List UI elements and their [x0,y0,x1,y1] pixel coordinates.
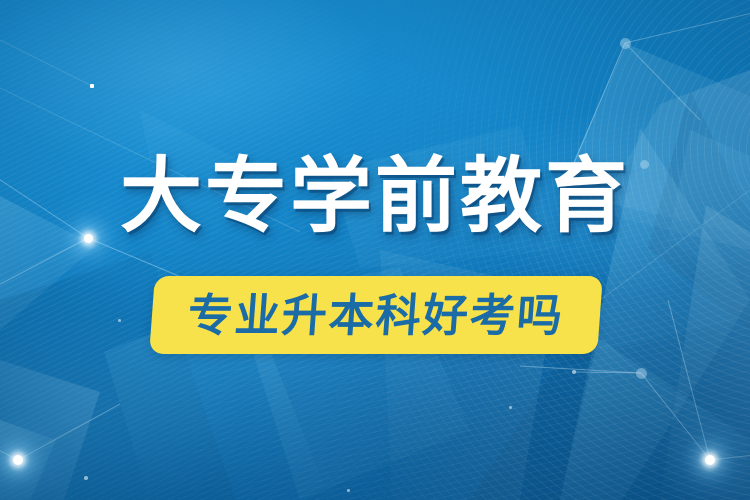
promo-banner: 大专学前教育 专业升本科好考吗 [0,0,750,500]
subheadline-text: 专业升本科好考吗 [149,276,603,354]
headline-text: 大专学前教育 [0,156,750,238]
subheadline-banner: 专业升本科好考吗 [152,276,600,354]
background-vignette [0,0,750,500]
